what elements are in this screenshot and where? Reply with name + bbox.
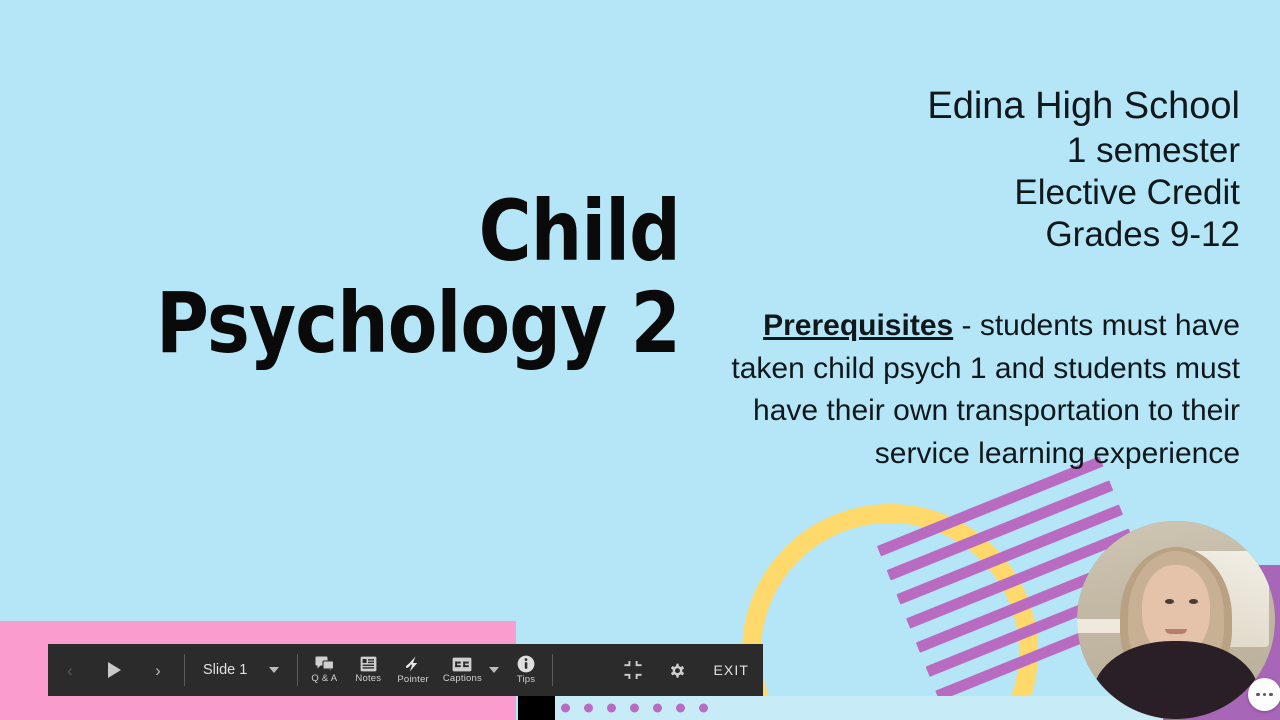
meta-line-school: Edina High School xyxy=(780,84,1240,130)
captions-button[interactable]: Captions xyxy=(436,644,489,696)
gear-icon xyxy=(668,661,687,680)
info-circle-icon xyxy=(517,655,535,673)
tips-button[interactable]: Tips xyxy=(504,644,548,696)
play-button[interactable] xyxy=(92,644,136,696)
more-horizontal-icon[interactable] xyxy=(1248,678,1280,711)
meta-line-grades: Grades 9-12 xyxy=(780,214,1240,256)
qa-button-label: Q & A xyxy=(311,674,337,684)
exit-fullscreen-icon xyxy=(624,661,642,679)
tips-button-label: Tips xyxy=(517,675,535,685)
pointer-button-label: Pointer xyxy=(397,675,429,685)
settings-button[interactable] xyxy=(655,644,699,696)
chevron-left-icon: ‹ xyxy=(67,662,73,679)
notes-list-icon xyxy=(360,656,377,672)
presentation-slide-view: Child Psychology 2 Edina High School 1 s… xyxy=(0,0,1280,720)
exit-button[interactable]: EXIT xyxy=(699,644,763,696)
captions-options-button[interactable] xyxy=(489,644,504,696)
presenter-video-avatar[interactable] xyxy=(1077,521,1275,719)
video-mouth xyxy=(1165,629,1187,634)
captions-button-label: Captions xyxy=(443,674,482,684)
course-meta-block: Edina High School 1 semester Elective Cr… xyxy=(780,84,1240,256)
slide-title-line-2: Psychology 2 xyxy=(130,277,680,369)
toolbar-divider-2 xyxy=(297,654,298,686)
slide-selector[interactable]: Slide 1 xyxy=(189,644,293,696)
play-icon xyxy=(108,662,121,678)
meta-line-semester: 1 semester xyxy=(780,130,1240,172)
toolbar-spacer xyxy=(557,644,612,696)
toolbar-divider-3 xyxy=(552,654,553,686)
previous-slide-button[interactable]: ‹ xyxy=(48,644,92,696)
video-eye-left xyxy=(1165,599,1174,604)
prerequisites-label: Prerequisites xyxy=(763,309,953,342)
next-slide-button[interactable]: › xyxy=(136,644,180,696)
notes-button-label: Notes xyxy=(355,674,381,684)
prerequisites-paragraph: Prerequisites - students must have taken… xyxy=(730,305,1240,475)
laser-pointer-icon xyxy=(404,656,422,673)
speech-bubble-icon xyxy=(315,656,334,672)
slide-title-line-1: Child xyxy=(130,185,680,277)
exit-fullscreen-button[interactable] xyxy=(611,644,655,696)
presenter-toolbar: ‹ › Slide 1 Q & A xyxy=(48,644,763,696)
pointer-button[interactable]: Pointer xyxy=(390,644,436,696)
chevron-down-icon xyxy=(489,667,499,673)
video-eye-right xyxy=(1189,599,1198,604)
slide-selector-label: Slide 1 xyxy=(203,662,247,678)
toolbar-divider-1 xyxy=(184,654,185,686)
chevron-right-icon: › xyxy=(155,662,161,679)
bottom-dot-band xyxy=(555,696,1163,720)
meta-line-credit: Elective Credit xyxy=(780,172,1240,214)
closed-captions-icon xyxy=(452,657,472,672)
chevron-down-icon xyxy=(269,667,279,673)
qa-button[interactable]: Q & A xyxy=(302,644,346,696)
notes-button[interactable]: Notes xyxy=(346,644,390,696)
slide-title: Child Psychology 2 xyxy=(130,185,680,370)
